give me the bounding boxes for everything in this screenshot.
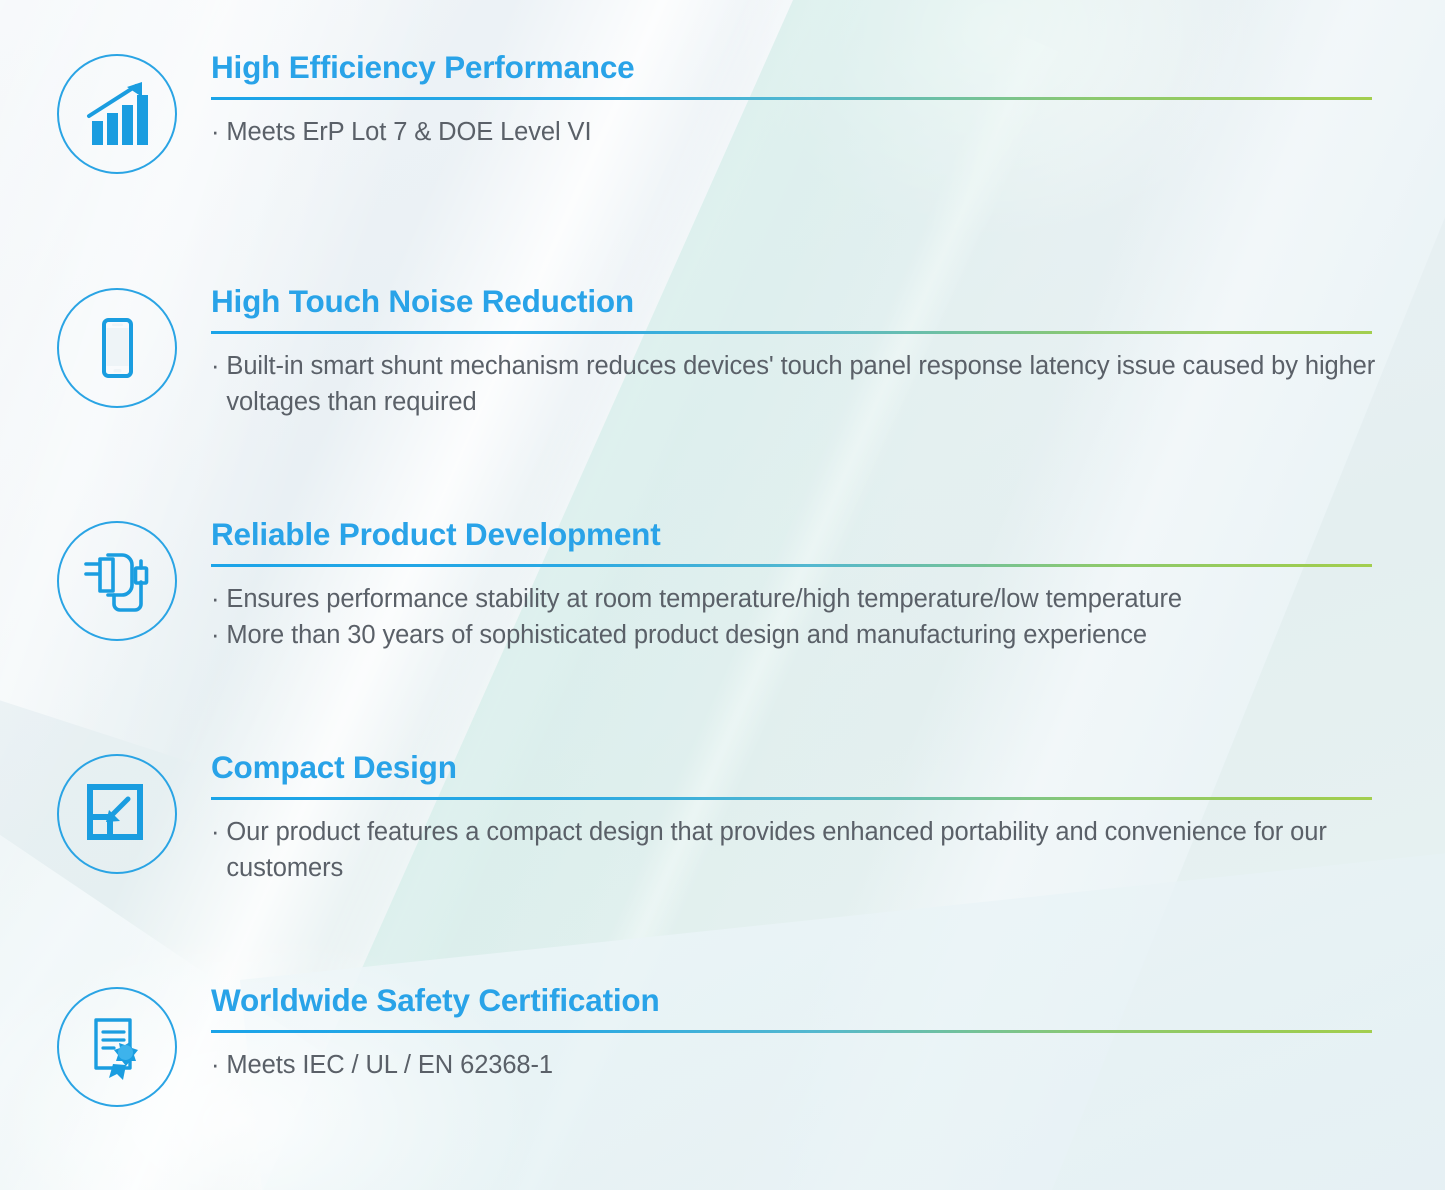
bullet-text: Meets ErP Lot 7 & DOE Level VI xyxy=(226,114,1445,150)
feature-bullets: · Our product features a compact design … xyxy=(211,814,1445,886)
bullet-item: · Ensures performance stability at room … xyxy=(211,581,1445,617)
feature-title: Compact Design xyxy=(211,750,1445,785)
feature-body: Compact Design · Our product features a … xyxy=(178,750,1445,887)
bullet-text: Our product features a compact design th… xyxy=(226,814,1445,886)
feature-icon-wrap xyxy=(56,983,178,1107)
bullet-item: · Our product features a compact design … xyxy=(211,814,1445,886)
bar-chart-growth-icon xyxy=(57,54,177,174)
feature-body: High Touch Noise Reduction · Built-in sm… xyxy=(178,284,1445,421)
bullet-marker: · xyxy=(211,617,219,653)
feature-bullets: · Ensures performance stability at room … xyxy=(211,581,1445,653)
bullet-marker: · xyxy=(211,581,219,617)
feature-bullets: · Built-in smart shunt mechanism reduces… xyxy=(211,348,1445,420)
bullet-item: · Built-in smart shunt mechanism reduces… xyxy=(211,348,1445,420)
feature-divider xyxy=(211,564,1372,567)
feature-icon-wrap xyxy=(56,750,178,874)
bullet-marker: · xyxy=(211,114,219,150)
feature-title: Worldwide Safety Certification xyxy=(211,983,1445,1018)
feature-item-compact-design: Compact Design · Our product features a … xyxy=(0,750,1445,887)
bullet-item: · Meets ErP Lot 7 & DOE Level VI xyxy=(211,114,1445,150)
feature-divider xyxy=(211,331,1372,334)
feature-body: Worldwide Safety Certification · Meets I… xyxy=(178,983,1445,1083)
feature-icon-wrap xyxy=(56,517,178,641)
bullet-text: More than 30 years of sophisticated prod… xyxy=(226,617,1445,653)
bullet-marker: · xyxy=(211,814,219,850)
feature-icon-wrap xyxy=(56,50,178,174)
feature-icon-wrap xyxy=(56,284,178,408)
compact-resize-icon xyxy=(57,754,177,874)
feature-item-high-efficiency-performance: High Efficiency Performance · Meets ErP … xyxy=(0,50,1445,174)
feature-body: Reliable Product Development · Ensures p… xyxy=(178,517,1445,654)
certificate-seal-icon xyxy=(57,987,177,1107)
feature-title: High Efficiency Performance xyxy=(211,50,1445,85)
feature-bullets: · Meets IEC / UL / EN 62368-1 xyxy=(211,1047,1445,1083)
bullet-item: · More than 30 years of sophisticated pr… xyxy=(211,617,1445,653)
feature-divider xyxy=(211,797,1372,800)
smartphone-icon xyxy=(57,288,177,408)
feature-item-high-touch-noise-reduction: High Touch Noise Reduction · Built-in sm… xyxy=(0,284,1445,421)
feature-divider xyxy=(211,97,1372,100)
bullet-marker: · xyxy=(211,348,219,384)
bullet-text: Ensures performance stability at room te… xyxy=(226,581,1445,617)
feature-item-worldwide-safety-certification: Worldwide Safety Certification · Meets I… xyxy=(0,983,1445,1107)
bullet-marker: · xyxy=(211,1047,219,1083)
feature-bullets: · Meets ErP Lot 7 & DOE Level VI xyxy=(211,114,1445,150)
bullet-text: Meets IEC / UL / EN 62368-1 xyxy=(226,1047,1445,1083)
feature-item-reliable-product-development: Reliable Product Development · Ensures p… xyxy=(0,517,1445,654)
power-adapter-icon xyxy=(57,521,177,641)
bullet-text: Built-in smart shunt mechanism reduces d… xyxy=(226,348,1445,420)
feature-body: High Efficiency Performance · Meets ErP … xyxy=(178,50,1445,150)
feature-divider xyxy=(211,1030,1372,1033)
feature-title: High Touch Noise Reduction xyxy=(211,284,1445,319)
feature-title: Reliable Product Development xyxy=(211,517,1445,552)
bullet-item: · Meets IEC / UL / EN 62368-1 xyxy=(211,1047,1445,1083)
